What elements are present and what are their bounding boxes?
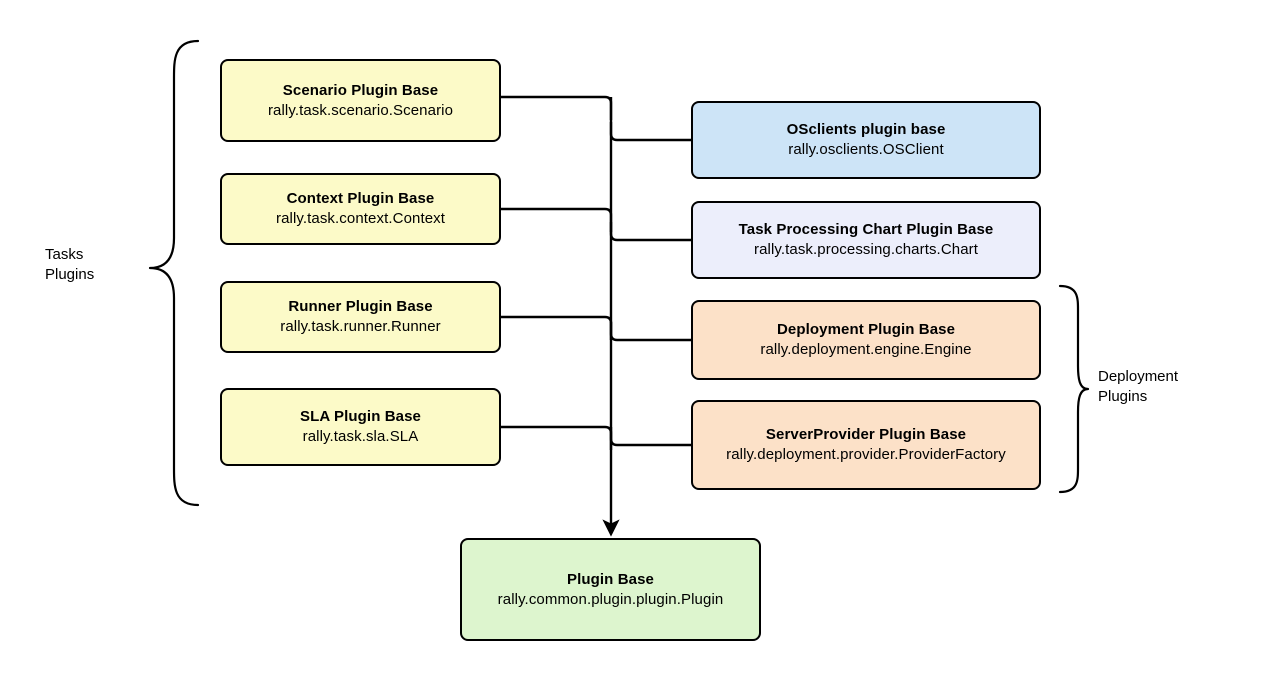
edge-trunk-to-chart xyxy=(611,222,691,240)
node-task-processing-chart-plugin-base[interactable]: Task Processing Chart Plugin Base rally.… xyxy=(691,201,1041,279)
node-deployment-plugin-base[interactable]: Deployment Plugin Base rally.deployment.… xyxy=(691,300,1041,380)
node-sla-plugin-base[interactable]: SLA Plugin Base rally.task.sla.SLA xyxy=(220,388,501,466)
node-subtitle: rally.deployment.provider.ProviderFactor… xyxy=(726,446,1006,464)
node-context-plugin-base[interactable]: Context Plugin Base rally.task.context.C… xyxy=(220,173,501,245)
node-subtitle: rally.task.runner.Runner xyxy=(280,318,441,336)
node-title: OSclients plugin base xyxy=(787,121,946,139)
edge-scenario-to-trunk xyxy=(501,97,611,120)
node-title: Context Plugin Base xyxy=(287,190,435,208)
node-title: Scenario Plugin Base xyxy=(283,82,438,100)
group-label-deployment-plugins: Deployment Plugins xyxy=(1098,367,1178,408)
group-label-tasks-plugins: Tasks Plugins xyxy=(45,245,94,286)
node-subtitle: rally.task.scenario.Scenario xyxy=(268,102,453,120)
node-runner-plugin-base[interactable]: Runner Plugin Base rally.task.runner.Run… xyxy=(220,281,501,353)
node-osclients-plugin-base[interactable]: OSclients plugin base rally.osclients.OS… xyxy=(691,101,1041,179)
edge-trunk-to-osclients xyxy=(611,122,691,140)
node-subtitle: rally.task.processing.charts.Chart xyxy=(754,241,978,259)
node-subtitle: rally.osclients.OSClient xyxy=(788,141,944,159)
node-title: Runner Plugin Base xyxy=(288,298,432,316)
node-subtitle: rally.common.plugin.plugin.Plugin xyxy=(498,591,724,609)
node-title: Plugin Base xyxy=(567,571,654,589)
node-subtitle: rally.task.context.Context xyxy=(276,210,445,228)
node-plugin-base[interactable]: Plugin Base rally.common.plugin.plugin.P… xyxy=(460,538,761,641)
brace-tasks-plugins xyxy=(150,41,198,505)
diagram-canvas: Scenario Plugin Base rally.task.scenario… xyxy=(0,0,1281,680)
node-title: ServerProvider Plugin Base xyxy=(766,426,966,444)
brace-deployment-plugins xyxy=(1060,286,1088,492)
node-title: Deployment Plugin Base xyxy=(777,321,955,339)
edge-trunk-to-serverprovider xyxy=(611,427,691,445)
edge-context-to-trunk xyxy=(501,209,611,232)
node-title: Task Processing Chart Plugin Base xyxy=(739,221,994,239)
node-scenario-plugin-base[interactable]: Scenario Plugin Base rally.task.scenario… xyxy=(220,59,501,142)
edge-sla-to-trunk xyxy=(501,427,611,450)
node-subtitle: rally.deployment.engine.Engine xyxy=(760,341,971,359)
node-serverprovider-plugin-base[interactable]: ServerProvider Plugin Base rally.deploym… xyxy=(691,400,1041,490)
edge-trunk-to-deployment xyxy=(611,322,691,340)
node-title: SLA Plugin Base xyxy=(300,408,421,426)
edge-runner-to-trunk xyxy=(501,317,611,340)
node-subtitle: rally.task.sla.SLA xyxy=(303,428,419,446)
